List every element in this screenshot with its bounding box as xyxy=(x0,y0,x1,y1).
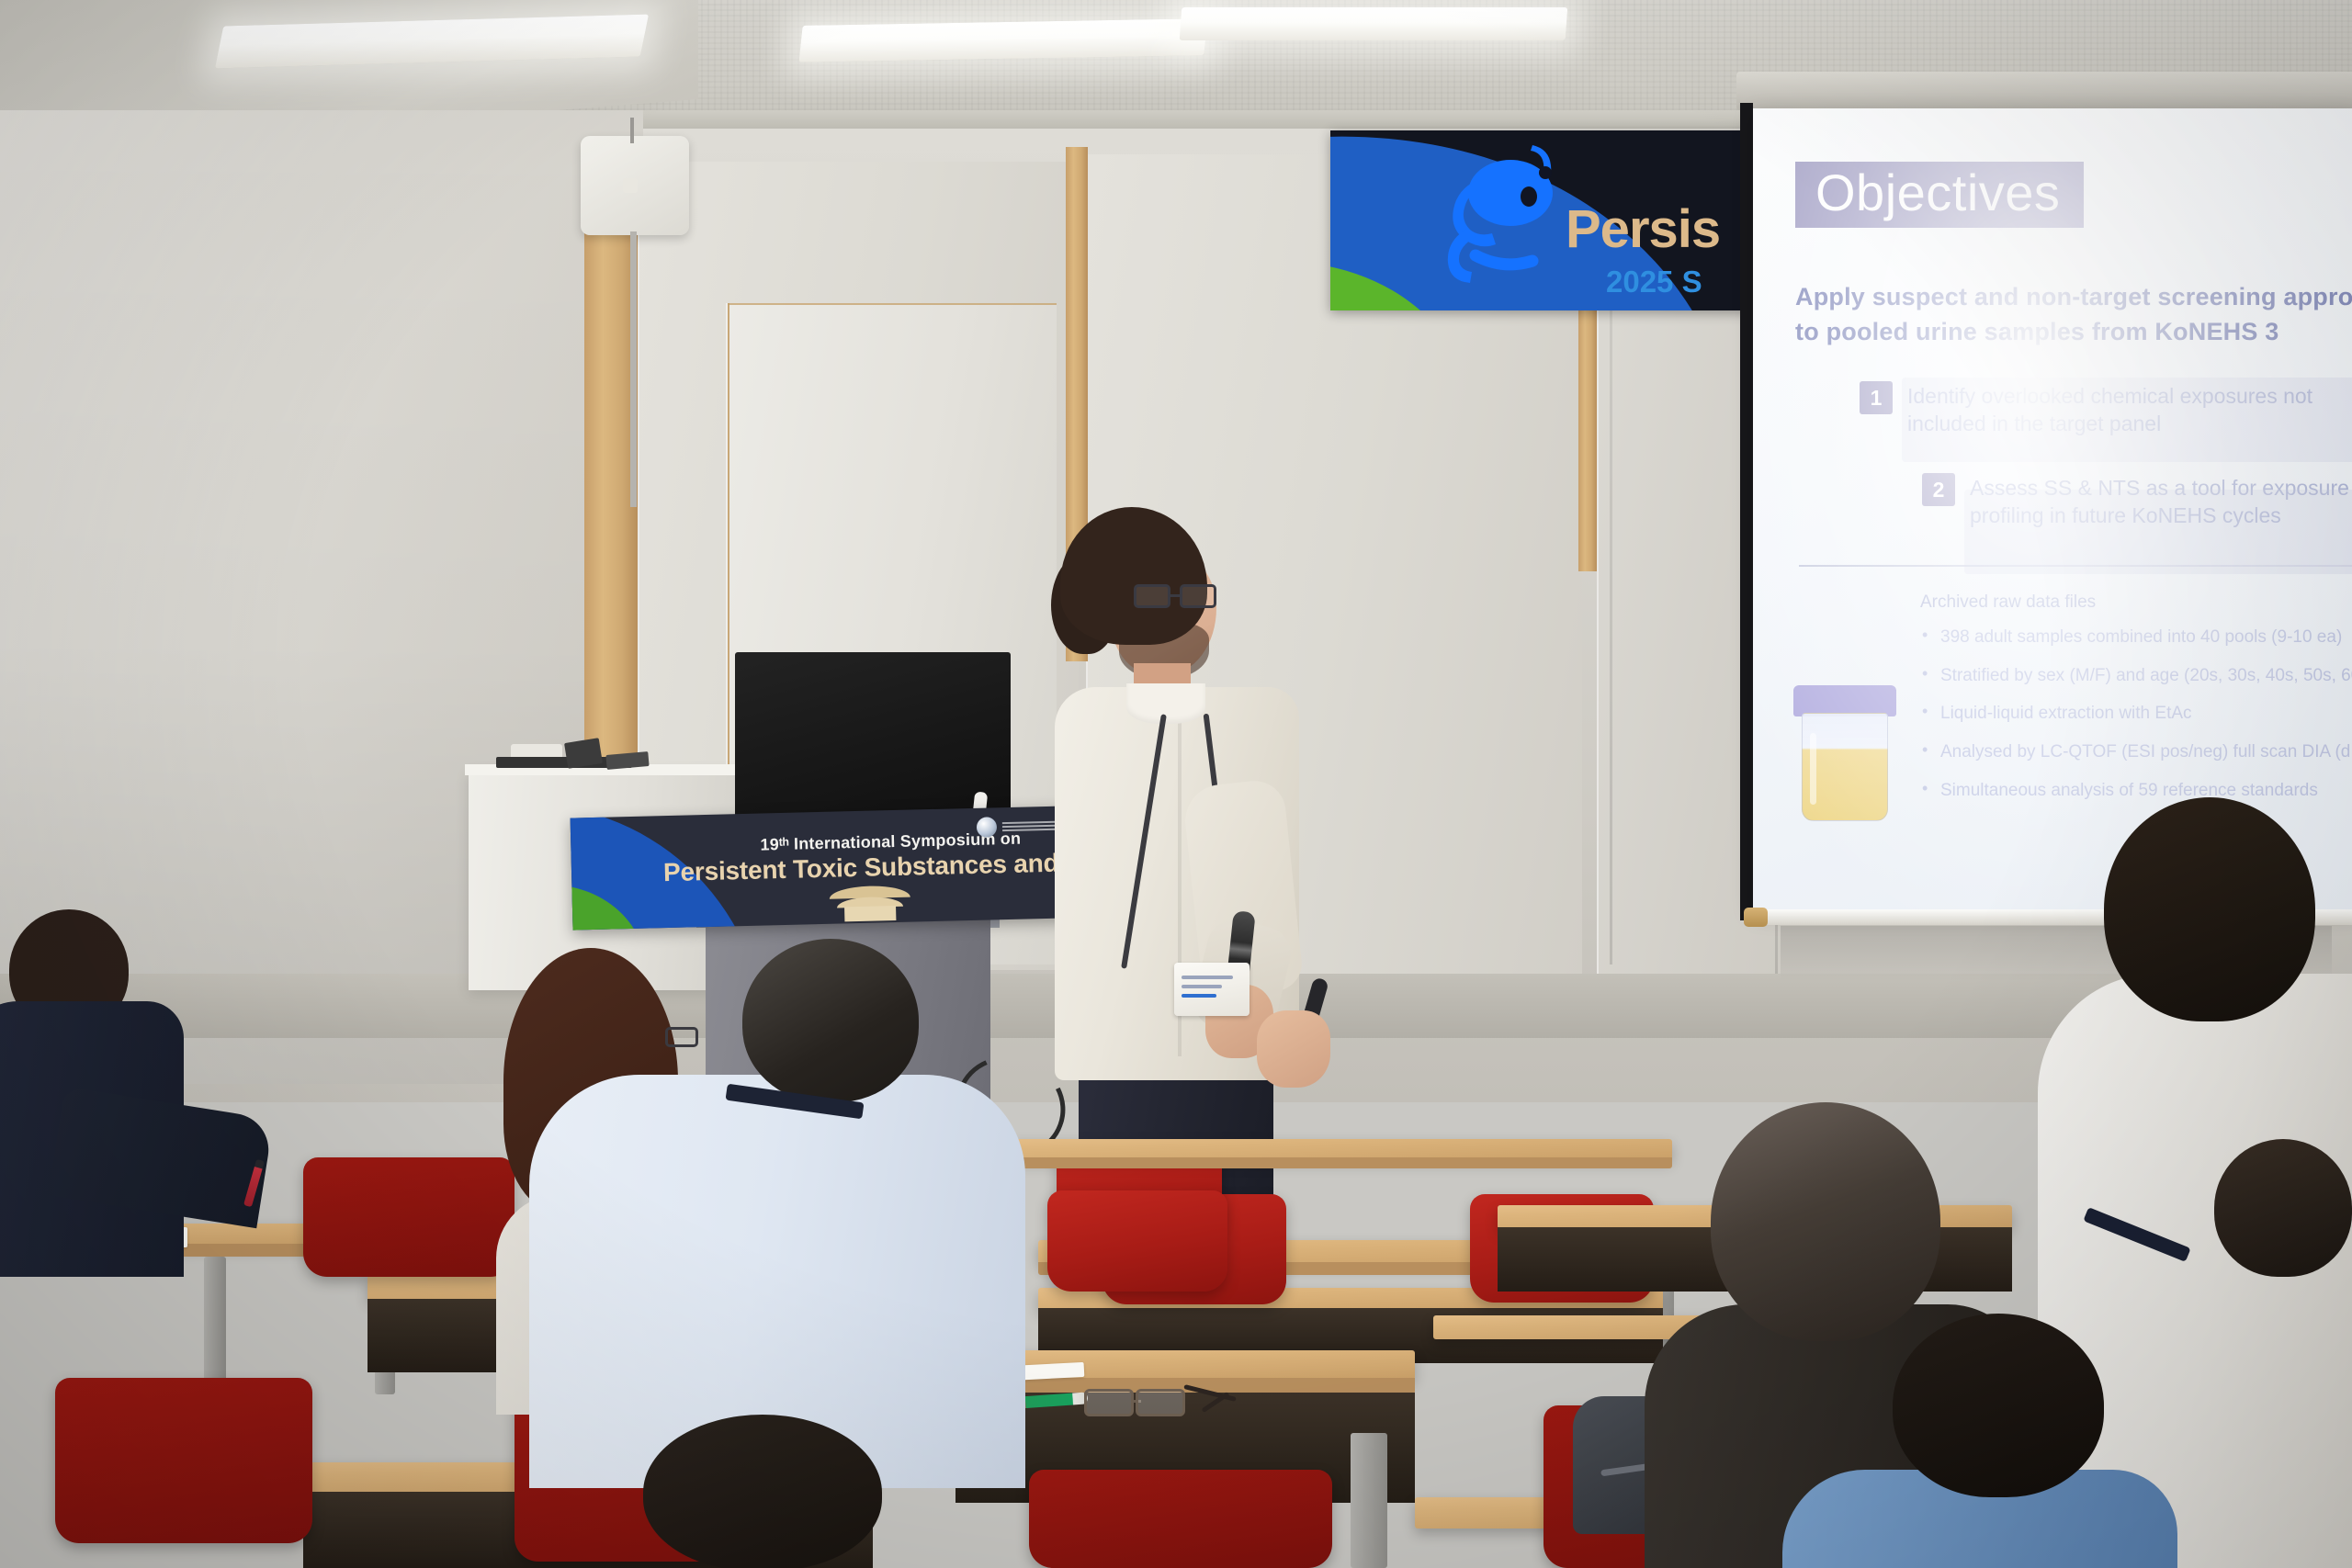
speaker-mount-rod xyxy=(630,118,634,143)
slide-lead-line2: to pooled urine samples from KoNEHS 3 xyxy=(1795,316,2352,349)
banner-year: 2025 S xyxy=(1606,265,1702,299)
credenza-device xyxy=(564,738,603,769)
audience-head xyxy=(643,1415,882,1568)
cup-highlight xyxy=(1810,733,1816,805)
audience-head xyxy=(1893,1314,2104,1497)
presenter-hand-clicker xyxy=(1257,1010,1330,1088)
chair-red[interactable] xyxy=(303,1157,514,1277)
cup-lid xyxy=(1793,685,1896,716)
lecture-hall-photo: Persis 2025 S Objectives Apply suspect a… xyxy=(0,0,2352,1568)
slide-title: Objectives xyxy=(1815,164,2060,221)
slide-title-box: Objectives xyxy=(1795,162,2084,228)
audience-head xyxy=(2214,1139,2352,1277)
presenter-glasses-icon xyxy=(1134,584,1220,608)
eyeglass-lens-left xyxy=(1084,1389,1134,1416)
desk-row1-right-edge xyxy=(1011,1157,1672,1168)
presentation-slide: Objectives Apply suspect and non-target … xyxy=(1753,108,2352,909)
speaker-pole xyxy=(630,231,637,507)
slide-sub-section: Archived raw data files 398 adult sample… xyxy=(1920,592,2352,802)
desk-leg-front xyxy=(1351,1433,1387,1568)
speaker-grille-dot xyxy=(623,178,638,193)
chair-red[interactable] xyxy=(1047,1190,1227,1292)
objective-2-number: 2 xyxy=(1922,473,1955,506)
audience-head xyxy=(742,939,919,1102)
sub-bullet-5: Simultaneous analysis of 59 reference st… xyxy=(1920,781,2352,802)
gate-base xyxy=(844,906,896,921)
presenter xyxy=(1038,507,1341,1205)
tiger-logo-icon xyxy=(1422,136,1588,283)
sub-bullet-4: Analysed by LC-QTOF (ESI pos/neg) full s… xyxy=(1920,742,2352,763)
wall-speaker xyxy=(581,136,689,235)
audience-glasses-icon xyxy=(665,1027,698,1047)
chair-red[interactable] xyxy=(1029,1470,1332,1568)
podium-banner: 19ᵗʰ International Symposium on Persiste… xyxy=(571,806,1069,930)
urine-specimen-cup-icon xyxy=(1793,685,1896,823)
desk-row1-right xyxy=(1011,1139,1672,1159)
ceiling-light-3 xyxy=(1180,7,1568,40)
globe-icon xyxy=(977,817,998,838)
screen-housing xyxy=(1736,72,2352,110)
banner-title: Persis xyxy=(1566,198,1720,260)
objective-1-number: 1 xyxy=(1860,381,1893,414)
korean-gate-emblem-icon xyxy=(830,886,911,922)
presenter-name-badge xyxy=(1174,963,1249,1016)
sub-bullet-2: Stratified by sex (M/F) and age (20s, 30… xyxy=(1920,666,2352,687)
objective-2-highlight xyxy=(1964,490,2352,574)
eyeglasses-on-desk[interactable] xyxy=(1084,1385,1222,1418)
audience-head xyxy=(2104,797,2315,1021)
wall-event-banner: Persis 2025 S xyxy=(1330,130,1762,310)
sub-bullet-1: 398 adult samples combined into 40 pools… xyxy=(1920,627,2352,649)
slide-lead-line1: Apply suspect and non-target screening a… xyxy=(1795,281,2352,314)
sub-bullet-3: Liquid-liquid extraction with EtAc xyxy=(1920,704,2352,725)
eyeglass-lens-right xyxy=(1136,1389,1185,1416)
sub-bullet-list: 398 adult samples combined into 40 pools… xyxy=(1920,627,2352,802)
objective-1-highlight xyxy=(1902,378,2352,462)
ceiling-light-2 xyxy=(798,18,1207,62)
presenter-hair xyxy=(1060,507,1207,645)
audience-head xyxy=(1711,1102,1940,1341)
screen-left-rail xyxy=(1740,103,1753,920)
sub-heading: Archived raw data files xyxy=(1920,592,2352,613)
chair-red[interactable] xyxy=(55,1378,312,1543)
screen-bar-knob xyxy=(1744,908,1768,927)
slide-objectives-list: 1 Identify overlooked chemical exposures… xyxy=(1860,381,2352,530)
pull-down-projection-screen: Objectives Apply suspect and non-target … xyxy=(1753,108,2352,909)
